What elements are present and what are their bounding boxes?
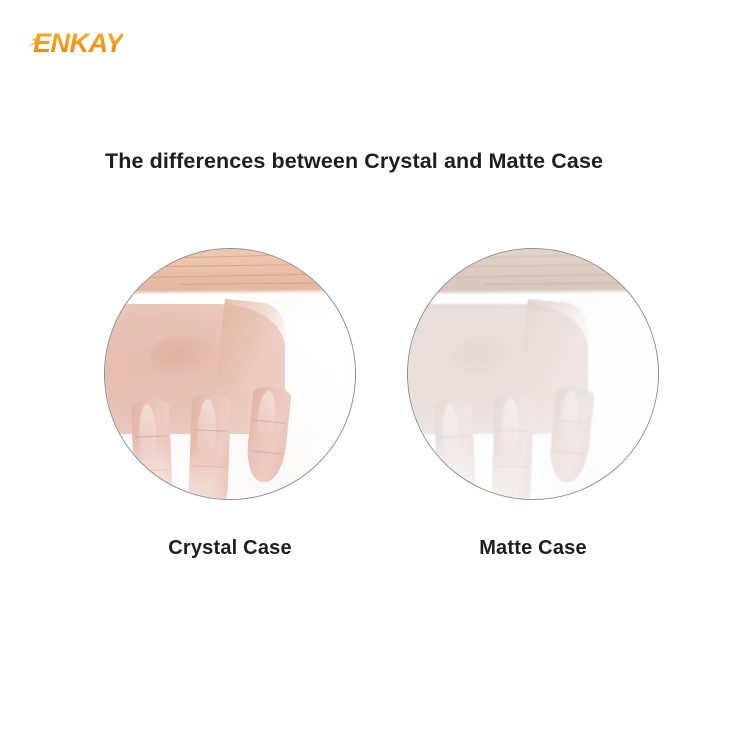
brand-logo-text: ENKAY: [33, 26, 123, 60]
comparison-panel-matte: Matte Case: [407, 248, 659, 578]
page-title: The differences between Crystal and Matt…: [105, 148, 665, 174]
caption-matte-case: Matte Case: [407, 536, 659, 560]
brand-logo: ENKAY: [33, 26, 193, 60]
wrist: [104, 248, 356, 294]
comparison-panel-crystal: Crystal Case: [104, 248, 356, 578]
product-photo-crystal: [104, 248, 356, 500]
product-photo-matte: [407, 248, 659, 500]
scene-matte: [408, 249, 658, 499]
comparison-row: Crystal Case: [0, 248, 750, 578]
case-gloss: [588, 314, 653, 489]
background-wash: [407, 439, 558, 500]
background-wash: [104, 439, 255, 500]
wrist: [407, 248, 659, 294]
case-gloss: [285, 314, 350, 489]
lightning-spark-icon: [28, 35, 42, 48]
scene-crystal: [105, 249, 355, 499]
caption-crystal-case: Crystal Case: [104, 536, 356, 560]
